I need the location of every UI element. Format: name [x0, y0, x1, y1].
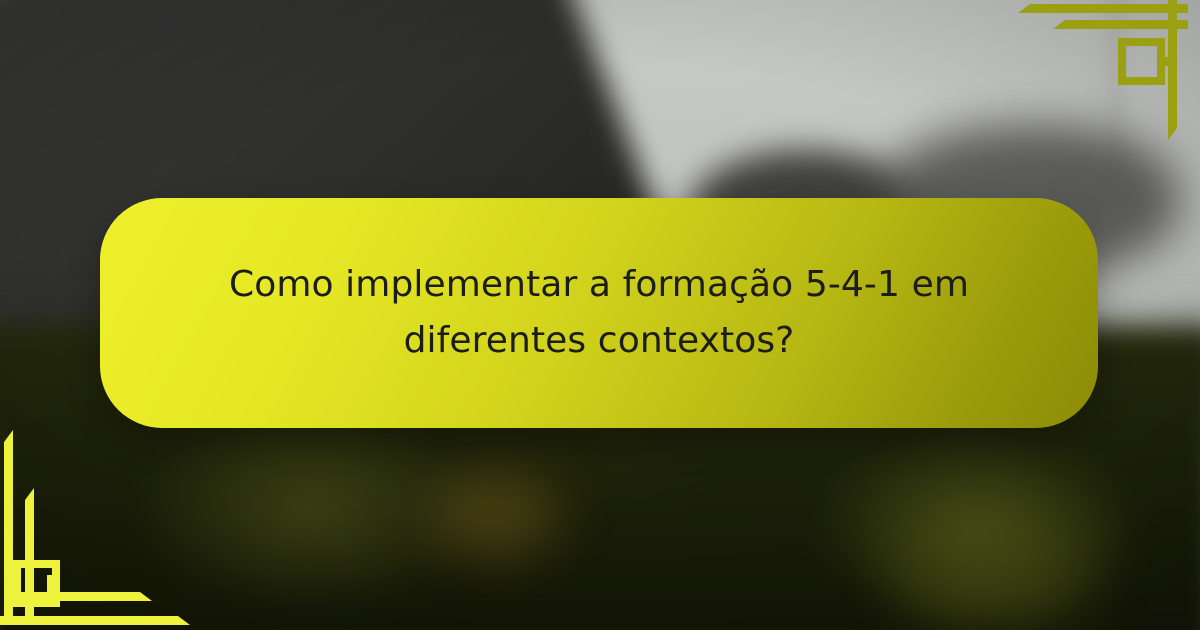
headline-card: Como implementar a formação 5-4-1 em dif…	[100, 198, 1098, 428]
social-card-canvas: Como implementar a formação 5-4-1 em dif…	[0, 0, 1200, 630]
page-title: Como implementar a formação 5-4-1 em dif…	[172, 257, 1026, 369]
